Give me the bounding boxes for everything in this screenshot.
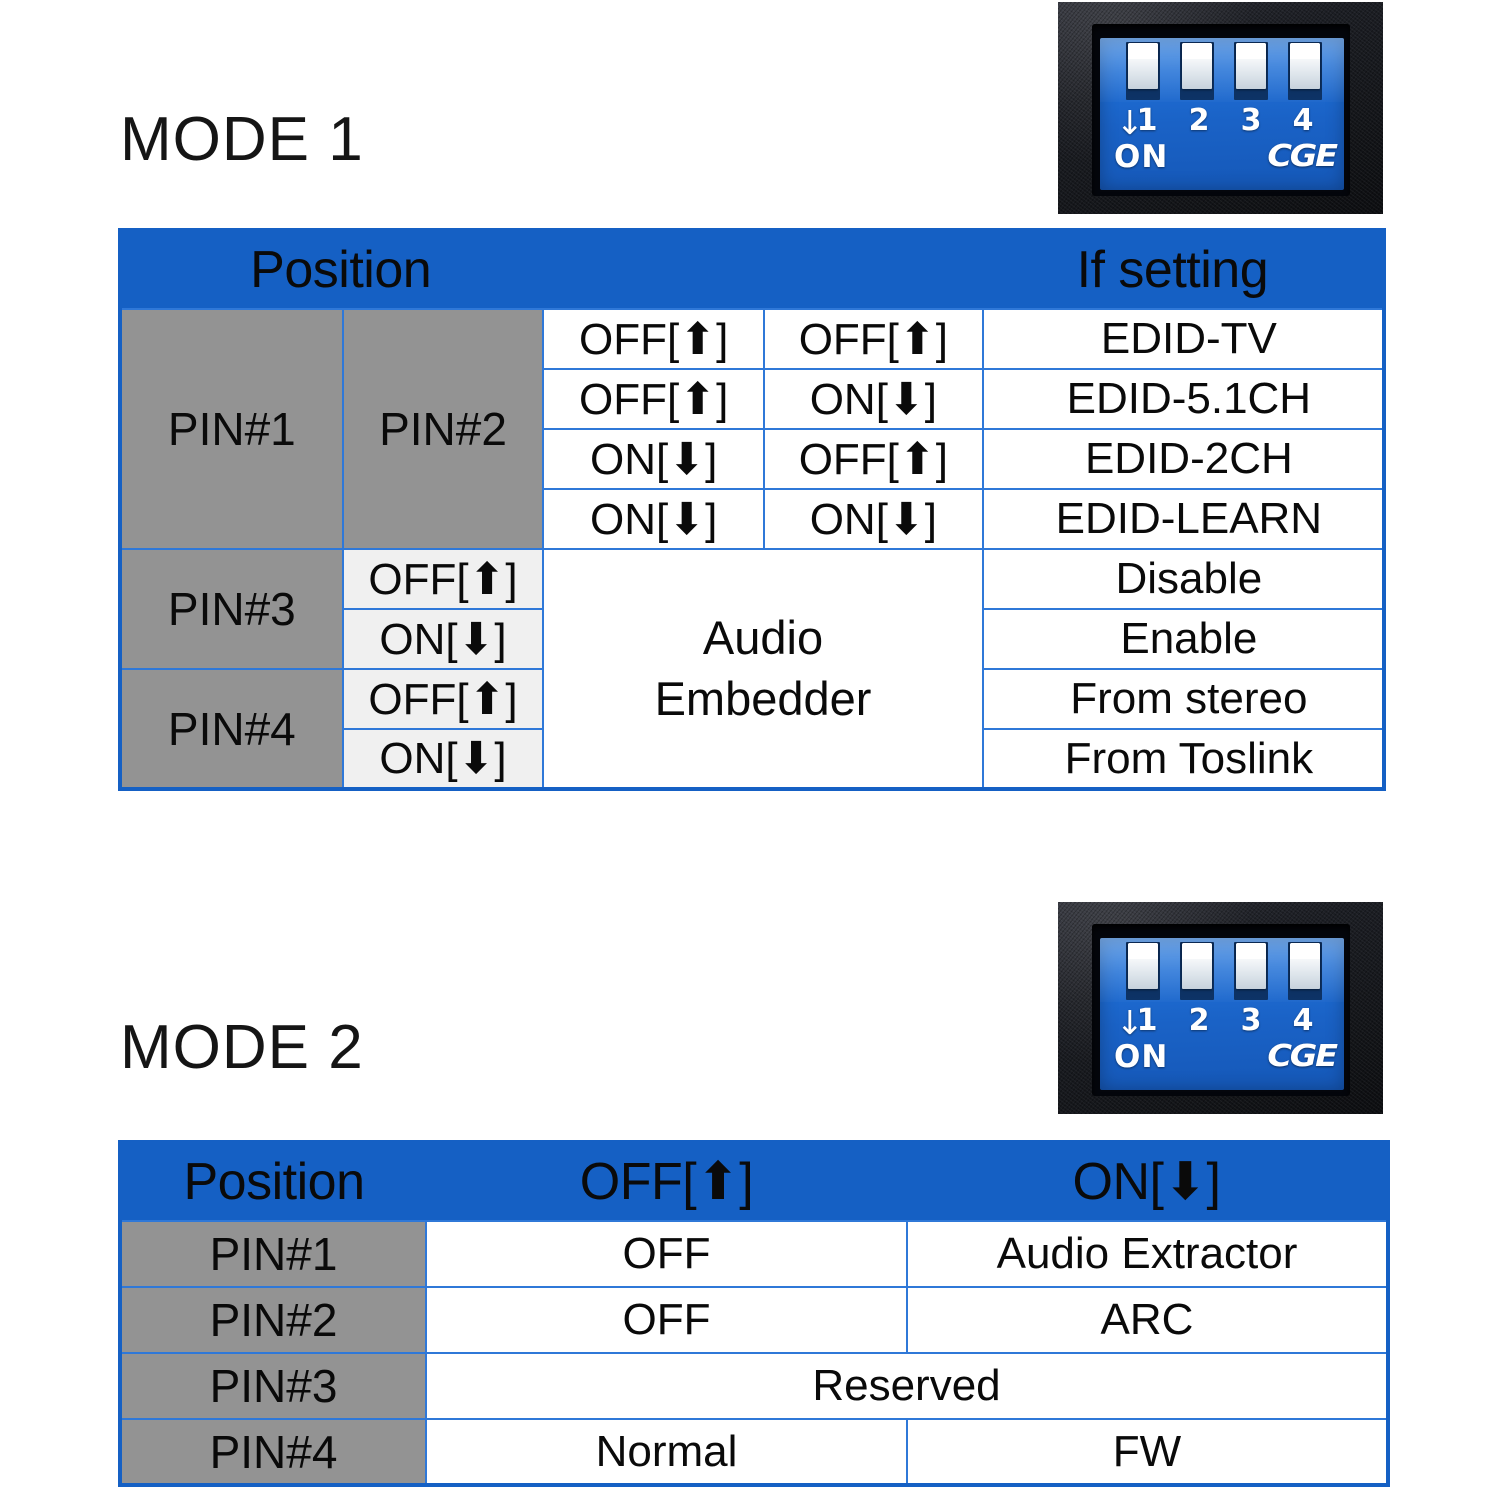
- table-row-pin2: PIN#2 OFF ARC: [120, 1287, 1388, 1353]
- dip-switch-lever-4: [1290, 943, 1320, 989]
- table-row-edid-tv: PIN#1 PIN#2 OFF[⬆] OFF[⬆] EDID-TV: [120, 309, 1384, 369]
- dip-switch-on-label: ON: [1114, 142, 1168, 173]
- pin4-on-value: FW: [907, 1419, 1388, 1485]
- dip-switch-number-3: 3: [1234, 106, 1268, 136]
- pin1-off-value: OFF: [426, 1221, 907, 1287]
- dip-switch-slot-2: [1180, 42, 1214, 100]
- setting-value: From Toslink: [983, 729, 1384, 789]
- pin-label-4: PIN#4: [120, 669, 343, 789]
- pin-label-2: PIN#2: [343, 309, 544, 549]
- setting-value: EDID-LEARN: [983, 489, 1384, 549]
- pin-label-1: PIN#1: [120, 1221, 426, 1287]
- column-header-spacer: [543, 230, 982, 309]
- dip-switch-on-label: ON: [1114, 1042, 1168, 1073]
- pin2-state: OFF[⬆]: [764, 429, 983, 489]
- audio-embedder-line-1: Audio: [544, 608, 981, 668]
- manufacturer-logo: CGE: [1267, 142, 1335, 172]
- setting-value: EDID-5.1CH: [983, 369, 1384, 429]
- mode-1-settings-table: Position If setting PIN#1 PIN#2 OFF[⬆] O…: [118, 228, 1386, 791]
- audio-embedder-label: Audio Embedder: [543, 549, 982, 789]
- dip-switch-slot-2: [1180, 942, 1214, 1000]
- dip-switch-lever-3: [1236, 943, 1266, 989]
- pin-label-3: PIN#3: [120, 1353, 426, 1419]
- dip-switch-slot-1: [1126, 42, 1160, 100]
- page-title-mode-2: MODE 2: [120, 1012, 364, 1083]
- setting-value: EDID-TV: [983, 309, 1384, 369]
- pin-label-3: PIN#3: [120, 549, 343, 669]
- dip-switch-lever-2: [1182, 943, 1212, 989]
- dip-switch-lever-2: [1182, 43, 1212, 89]
- pin2-state: ON[⬇]: [764, 489, 983, 549]
- setting-value: Enable: [983, 609, 1384, 669]
- dip-switch-lever-4: [1290, 43, 1320, 89]
- pin2-state: OFF[⬆]: [764, 309, 983, 369]
- dip-switch-slot-3: [1234, 942, 1268, 1000]
- dip-switch-number-1: 1: [1130, 106, 1164, 136]
- dip-switch-photo-mode-1: ↓ 1 2 3 4 ON CGE: [1058, 2, 1383, 214]
- pin4-state-off: OFF[⬆]: [343, 669, 544, 729]
- table-row-pin4: PIN#4 Normal FW: [120, 1419, 1388, 1485]
- dip-switch-number-3: 3: [1234, 1006, 1268, 1036]
- dip-switch-number-2: 2: [1182, 1006, 1216, 1036]
- table-header-row: Position If setting: [120, 230, 1384, 309]
- table-row-pin3: PIN#3 Reserved: [120, 1353, 1388, 1419]
- dip-switch-lever-1: [1128, 43, 1158, 89]
- dip-switch-photo-mode-2: ↓ 1 2 3 4 ON CGE: [1058, 902, 1383, 1114]
- column-header-if-setting: If setting: [983, 230, 1384, 309]
- dip-switch-number-1: 1: [1130, 1006, 1164, 1036]
- setting-value: EDID-2CH: [983, 429, 1384, 489]
- column-header-on: ON[⬇]: [907, 1142, 1388, 1221]
- dip-switch-body: ↓ 1 2 3 4 ON CGE: [1100, 38, 1344, 190]
- column-header-position: Position: [120, 1142, 426, 1221]
- setting-value: Disable: [983, 549, 1384, 609]
- pin2-on-value: ARC: [907, 1287, 1388, 1353]
- pin-label-1: PIN#1: [120, 309, 343, 549]
- pin-label-2: PIN#2: [120, 1287, 426, 1353]
- dip-switch-slot-3: [1234, 42, 1268, 100]
- pin4-state-on: ON[⬇]: [343, 729, 544, 789]
- pin3-state-off: OFF[⬆]: [343, 549, 544, 609]
- audio-embedder-line-2: Embedder: [544, 669, 981, 729]
- dip-switch-lever-1: [1128, 943, 1158, 989]
- table-header-row: Position OFF[⬆] ON[⬇]: [120, 1142, 1388, 1221]
- dip-switch-number-2: 2: [1182, 106, 1216, 136]
- pin3-state-on: ON[⬇]: [343, 609, 544, 669]
- column-header-position: Position: [120, 230, 543, 309]
- pin1-state: ON[⬇]: [543, 429, 764, 489]
- mode-2-settings-table: Position OFF[⬆] ON[⬇] PIN#1 OFF Audio Ex…: [118, 1140, 1390, 1487]
- column-header-off: OFF[⬆]: [426, 1142, 907, 1221]
- dip-switch-lever-3: [1236, 43, 1266, 89]
- manufacturer-logo: CGE: [1267, 1042, 1335, 1072]
- pin1-state: OFF[⬆]: [543, 309, 764, 369]
- pin1-state: ON[⬇]: [543, 489, 764, 549]
- setting-value: From stereo: [983, 669, 1384, 729]
- pin1-on-value: Audio Extractor: [907, 1221, 1388, 1287]
- page-title-mode-1: MODE 1: [120, 104, 364, 175]
- dip-switch-number-4: 4: [1286, 1006, 1320, 1036]
- pin1-state: OFF[⬆]: [543, 369, 764, 429]
- pin2-off-value: OFF: [426, 1287, 907, 1353]
- pin4-off-value: Normal: [426, 1419, 907, 1485]
- dip-switch-slot-4: [1288, 42, 1322, 100]
- dip-switch-slot-1: [1126, 942, 1160, 1000]
- pin-label-4: PIN#4: [120, 1419, 426, 1485]
- dip-switch-slot-4: [1288, 942, 1322, 1000]
- pin2-state: ON[⬇]: [764, 369, 983, 429]
- table-row-pin1: PIN#1 OFF Audio Extractor: [120, 1221, 1388, 1287]
- dip-switch-body: ↓ 1 2 3 4 ON CGE: [1100, 938, 1344, 1090]
- table-row-audio-disable: PIN#3 OFF[⬆] Audio Embedder Disable: [120, 549, 1384, 609]
- pin3-reserved-value: Reserved: [426, 1353, 1388, 1419]
- dip-switch-number-4: 4: [1286, 106, 1320, 136]
